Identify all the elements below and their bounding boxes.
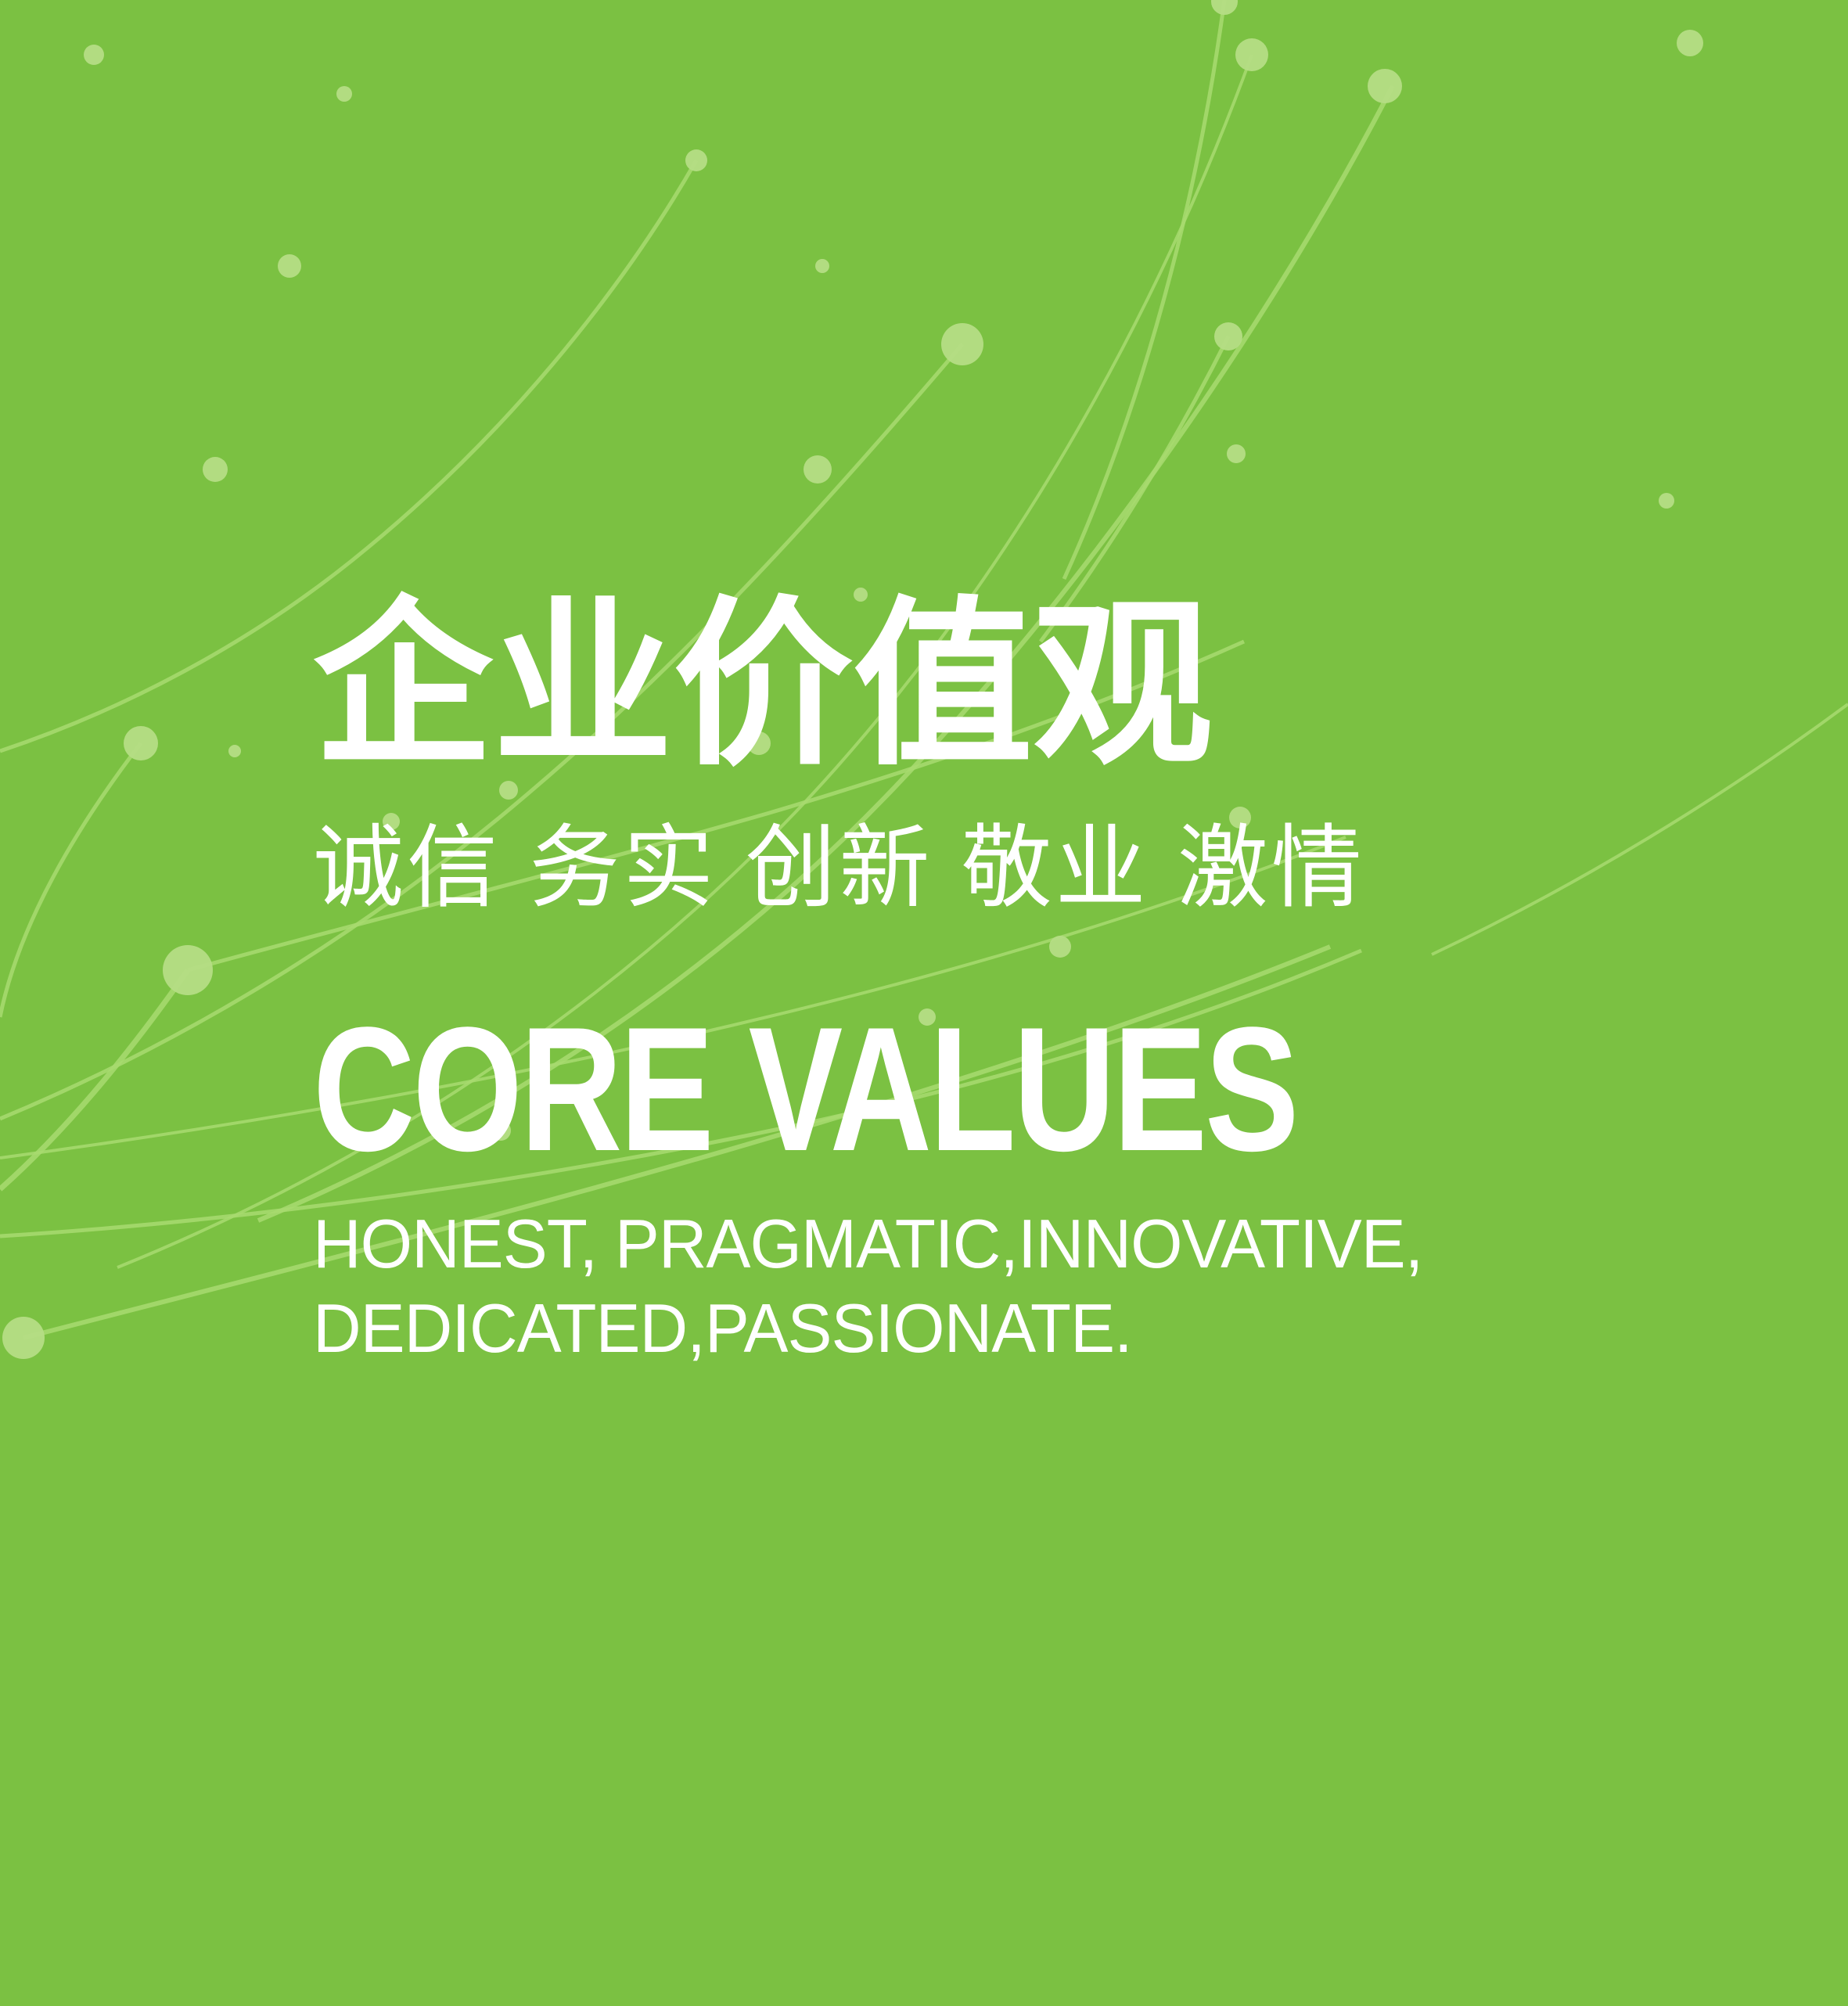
body-english: HONEST, PRAGMATIC,INNOVATIVE, DEDICATED,… — [313, 1202, 1679, 1371]
page-title: 企业价值观 — [313, 595, 1721, 776]
core-values-banner: 企业价值观 诚信 务实 创新 敬业 激情 CORE VALUES HONEST,… — [0, 0, 1848, 2006]
text-content-block: 企业价值观 诚信 务实 创新 敬业 激情 CORE VALUES HONEST,… — [313, 595, 1721, 1371]
body-english-line-1: HONEST, PRAGMATIC,INNOVATIVE, — [313, 1202, 1679, 1286]
subtitle-chinese: 诚信 务实 创新 敬业 激情 — [313, 809, 1721, 926]
body-english-line-2: DEDICATED,PASSIONATE. — [313, 1286, 1679, 1371]
heading-english: CORE VALUES — [313, 1011, 1440, 1167]
